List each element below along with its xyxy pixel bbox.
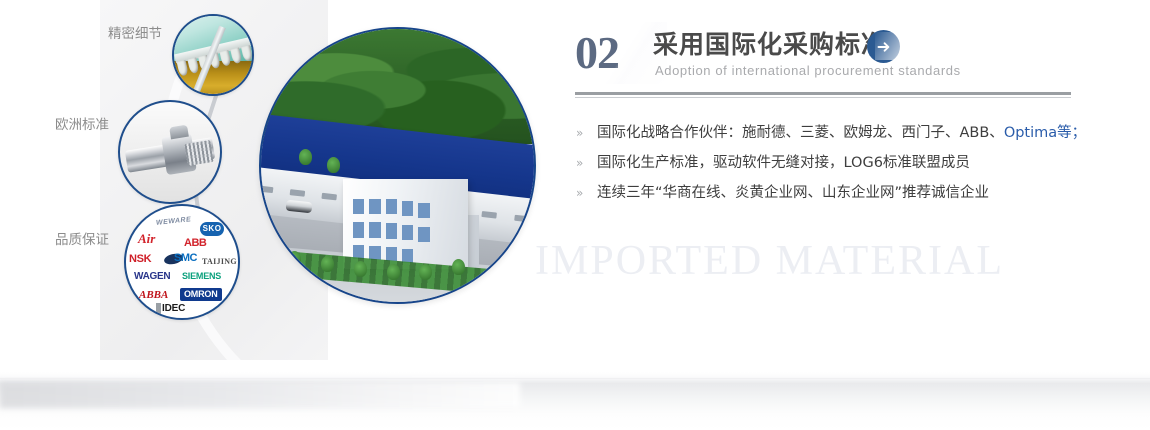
list-item: » 国际化战略合作伙伴：施耐德、三菱、欧姆龙、西门子、ABB、Optima等；	[575, 118, 1095, 148]
factory-aerial-photo	[259, 27, 536, 304]
right-content-column: 02 采用国际化采购标准 Adoption of international p…	[575, 0, 1095, 430]
section-number: 02	[575, 27, 653, 79]
brand-logo-siemens: SIEMENS	[182, 272, 221, 281]
brand-logo-omron: OMRON	[180, 288, 222, 301]
brand-logos-photo: WEWARE SKO Air ABB NSK SMC TAIJING WAGEN…	[124, 204, 240, 320]
screw-thread-shape	[184, 140, 213, 166]
photo-tree	[354, 261, 367, 277]
brand-logo-abb: ABB	[184, 238, 206, 249]
photo-office-building	[343, 179, 469, 269]
feature-label-quality: 品质保证	[55, 228, 109, 248]
brand-logo-weware: WEWARE	[156, 216, 192, 227]
photo-tree	[327, 157, 340, 173]
brand-logo-wagen: WAGEN	[134, 272, 170, 282]
photo-tree	[419, 264, 432, 280]
brand-logo-smc: SMC	[174, 253, 197, 264]
chevron-double-right-icon: »	[576, 148, 583, 178]
list-item-accent-text: Optima等；	[1004, 125, 1086, 141]
page-subtitle: Adoption of international procurement st…	[655, 63, 961, 78]
feature-bullet-list: » 国际化战略合作伙伴：施耐德、三菱、欧姆龙、西门子、ABB、Optima等； …	[575, 118, 1095, 208]
photo-tree	[299, 149, 312, 165]
list-item: » 国际化生产标准，驱动软件无缝对接，LOG6标准联盟成员	[575, 148, 1095, 178]
photo-tree	[452, 259, 465, 275]
ball-screw-photo	[118, 100, 222, 204]
photo-tree	[387, 264, 400, 280]
brand-logo-taijing: TAIJING	[202, 258, 237, 266]
chevron-double-right-icon: »	[576, 178, 583, 208]
brand-logo-idec: IDEC	[162, 304, 185, 314]
header-rule-thin	[575, 97, 1071, 98]
list-item-text: 国际化生产标准，驱动软件无缝对接，LOG6标准联盟成员	[597, 155, 970, 171]
brand-logo-air: Air	[138, 232, 155, 245]
chevron-double-right-icon: »	[576, 118, 583, 148]
watermark-text: IMPORTED MATERIAL	[535, 237, 1004, 285]
list-item-text: 连续三年“华商在线、炎黄企业网、山东企业网”推荐诚信企业	[597, 185, 989, 201]
brand-logo-sko: SKO	[200, 222, 224, 236]
feature-label-precision: 精密细节	[108, 22, 162, 42]
arrow-right-circle-icon[interactable]	[867, 30, 900, 63]
gear-macro-photo	[172, 14, 254, 96]
photo-tree	[288, 251, 301, 267]
photo-tree	[321, 256, 334, 272]
list-item-text: 国际化战略合作伙伴：施耐德、三菱、欧姆龙、西门子、ABB、	[597, 125, 1004, 141]
brand-logo-abba: ABBA	[139, 290, 168, 301]
feature-label-european: 欧洲标准	[55, 113, 109, 133]
brand-logo-nsk: NSK	[129, 254, 151, 265]
header-rule-thick	[575, 92, 1071, 95]
page-title: 采用国际化采购标准	[653, 28, 887, 62]
list-item: » 连续三年“华商在线、炎黄企业网、山东企业网”推荐诚信企业	[575, 178, 1095, 208]
